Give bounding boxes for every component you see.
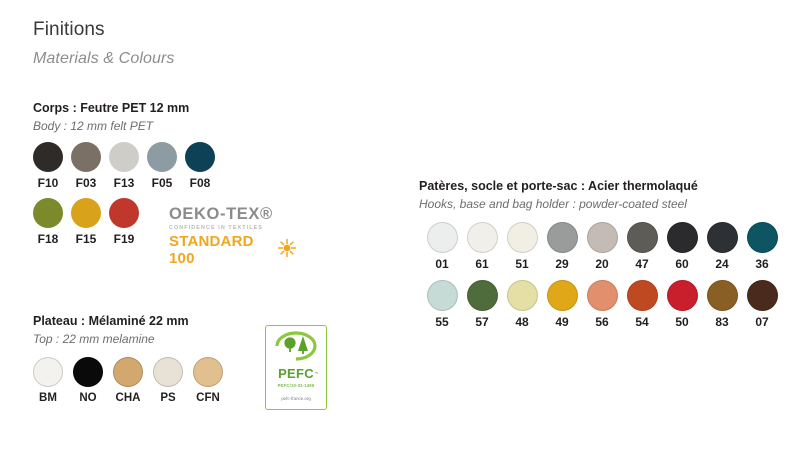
swatch-57[interactable]: 57 [462,280,502,329]
section-top-title: Plateau : Mélaminé 22 mm [33,313,228,329]
oeko-tex-logo: OEKO-TEX® CONFIDENCE IN TEXTILES STANDAR… [169,205,297,267]
swatch-color-24[interactable] [707,222,738,253]
swatch-color-55[interactable] [427,280,458,311]
swatch-61[interactable]: 61 [462,222,502,271]
swatch-color-f08[interactable] [185,142,215,172]
felt-swatch-row-1: F10F03F13F05F08 [29,142,219,190]
swatch-color-no[interactable] [73,357,103,387]
steel-swatch-row-1: 016151292047602436 [422,222,782,271]
swatch-color-51[interactable] [507,222,538,253]
swatch-f03[interactable]: F03 [67,142,105,190]
swatch-color-36[interactable] [747,222,778,253]
swatch-60[interactable]: 60 [662,222,702,271]
swatch-label-57: 57 [475,316,488,329]
swatch-label-f08: F08 [190,177,211,190]
swatch-label-83: 83 [715,316,728,329]
oeko-tex-tagline: CONFIDENCE IN TEXTILES [169,224,297,232]
swatch-color-56[interactable] [587,280,618,311]
swatch-color-f03[interactable] [71,142,101,172]
swatch-label-29: 29 [555,258,568,271]
swatch-label-56: 56 [595,316,608,329]
pefc-wordmark: PEFC™ [278,367,314,381]
swatch-51[interactable]: 51 [502,222,542,271]
swatch-label-f10: F10 [38,177,59,190]
swatch-label-24: 24 [715,258,728,271]
swatch-color-bm[interactable] [33,357,63,387]
swatch-48[interactable]: 48 [502,280,542,329]
swatch-label-f15: F15 [76,233,97,246]
swatch-label-f13: F13 [114,177,135,190]
section-steel-title: Patères, socle et porte-sac : Acier ther… [419,178,782,194]
swatch-color-f19[interactable] [109,198,139,228]
swatch-color-49[interactable] [547,280,578,311]
swatch-color-48[interactable] [507,280,538,311]
steel-swatch-row-2: 555748495654508307 [422,280,782,329]
swatch-36[interactable]: 36 [742,222,782,271]
swatch-color-f10[interactable] [33,142,63,172]
section-top-subtitle: Top : 22 mm melamine [33,331,228,347]
swatch-07[interactable]: 07 [742,280,782,329]
section-steel: Patères, socle et porte-sac : Acier ther… [419,178,782,329]
swatch-label-48: 48 [515,316,528,329]
swatch-color-83[interactable] [707,280,738,311]
swatch-label-50: 50 [675,316,688,329]
pefc-trees-icon [273,331,319,366]
sunburst-icon [277,238,297,263]
swatch-ps[interactable]: PS [148,357,188,405]
swatch-label-f18: F18 [38,233,59,246]
swatch-label-no: NO [79,392,96,405]
section-top-melamine: Plateau : Mélaminé 22 mm Top : 22 mm mel… [33,313,228,405]
swatch-label-36: 36 [755,258,768,271]
section-body-title: Corps : Feutre PET 12 mm [33,100,219,116]
pefc-logo: PEFC™ PEFC/10-31-1495 pefc-france.org [265,325,327,410]
swatch-color-20[interactable] [587,222,618,253]
swatch-label-60: 60 [675,258,688,271]
swatch-47[interactable]: 47 [622,222,662,271]
swatch-50[interactable]: 50 [662,280,702,329]
swatch-no[interactable]: NO [68,357,108,405]
swatch-label-f19: F19 [114,233,135,246]
swatch-label-20: 20 [595,258,608,271]
swatch-label-54: 54 [635,316,648,329]
swatch-20[interactable]: 20 [582,222,622,271]
swatch-color-61[interactable] [467,222,498,253]
swatch-color-47[interactable] [627,222,658,253]
swatch-label-f05: F05 [152,177,173,190]
swatch-color-60[interactable] [667,222,698,253]
pefc-url: pefc-france.org [281,396,311,402]
melamine-swatch-row: BMNOCHAPSCFN [28,357,228,405]
pefc-certificate-number: PEFC/10-31-1495 [278,383,315,389]
swatch-label-cfn: CFN [196,392,220,405]
swatch-label-47: 47 [635,258,648,271]
swatch-label-55: 55 [435,316,448,329]
page-subtitle: Materials & Colours [33,48,175,70]
swatch-color-f13[interactable] [109,142,139,172]
swatch-label-bm: BM [39,392,57,405]
oeko-tex-standard-label: STANDARD 100 [169,233,274,267]
swatch-color-f05[interactable] [147,142,177,172]
page-heading: Finitions Materials & Colours [33,18,175,70]
swatch-label-49: 49 [555,316,568,329]
swatch-label-51: 51 [515,258,528,271]
page-title: Finitions [33,18,175,42]
swatch-label-61: 61 [475,258,488,271]
swatch-color-cfn[interactable] [193,357,223,387]
swatch-label-01: 01 [435,258,448,271]
swatch-cha[interactable]: CHA [108,357,148,405]
swatch-56[interactable]: 56 [582,280,622,329]
swatch-29[interactable]: 29 [542,222,582,271]
swatch-54[interactable]: 54 [622,280,662,329]
swatch-f15[interactable]: F15 [67,198,105,246]
swatch-f05[interactable]: F05 [143,142,181,190]
swatch-f13[interactable]: F13 [105,142,143,190]
trademark-icon: ™ [315,367,319,381]
swatch-01[interactable]: 01 [422,222,462,271]
swatch-f19[interactable]: F19 [105,198,143,246]
swatch-49[interactable]: 49 [542,280,582,329]
swatch-label-cha: CHA [116,392,141,405]
swatch-24[interactable]: 24 [702,222,742,271]
section-steel-subtitle: Hooks, base and bag holder : powder-coat… [419,196,782,212]
swatch-label-07: 07 [755,316,768,329]
swatch-color-01[interactable] [427,222,458,253]
swatch-color-cha[interactable] [113,357,143,387]
swatch-cfn[interactable]: CFN [188,357,228,405]
swatch-color-29[interactable] [547,222,578,253]
section-body-subtitle: Body : 12 mm felt PET [33,118,219,134]
swatch-color-f15[interactable] [71,198,101,228]
swatch-bm[interactable]: BM [28,357,68,405]
swatch-55[interactable]: 55 [422,280,462,329]
swatch-label-f03: F03 [76,177,97,190]
swatch-f08[interactable]: F08 [181,142,219,190]
swatch-color-f18[interactable] [33,198,63,228]
swatch-f10[interactable]: F10 [29,142,67,190]
oeko-tex-wordmark: OEKO-TEX® [169,205,297,223]
swatch-color-50[interactable] [667,280,698,311]
swatch-83[interactable]: 83 [702,280,742,329]
swatch-color-07[interactable] [747,280,778,311]
swatch-f18[interactable]: F18 [29,198,67,246]
swatch-label-ps: PS [160,392,175,405]
swatch-color-54[interactable] [627,280,658,311]
swatch-color-ps[interactable] [153,357,183,387]
swatch-color-57[interactable] [467,280,498,311]
